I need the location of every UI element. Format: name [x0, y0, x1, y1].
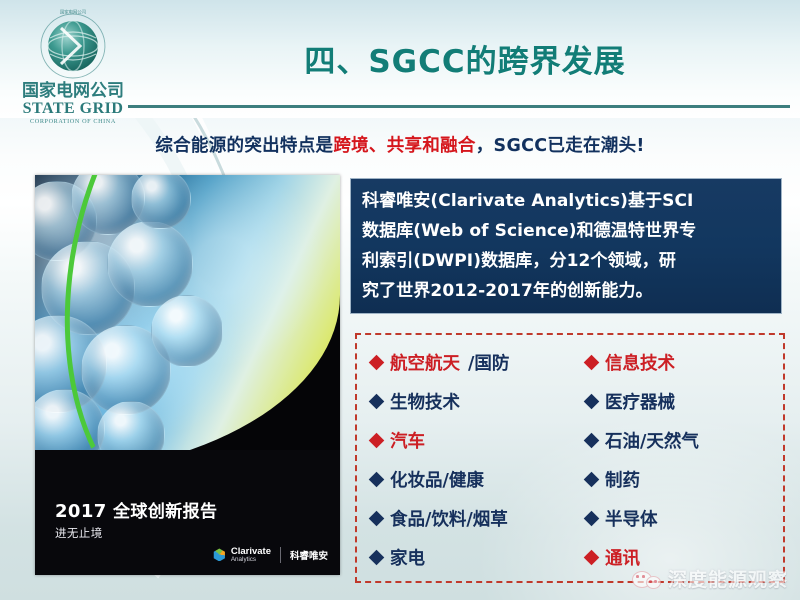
cover-logo-row: Clarivate Analytics 科睿唯安	[213, 547, 328, 563]
fields-column-right: 信息技术 医疗器械 石油/天然气 制药 半导体 通讯	[568, 335, 783, 581]
diamond-bullet-navy-icon	[369, 472, 385, 488]
diamond-bullet-navy-icon	[584, 394, 600, 410]
logo-divider	[280, 547, 281, 563]
cover-title-year: 2017	[55, 501, 107, 522]
list-item: 航空航天/国防	[371, 343, 568, 382]
kerui-weian-logo: 科睿唯安	[290, 548, 328, 562]
cover-subtitle: 进无止境	[55, 525, 103, 541]
slide-canvas: 国家电网公司 国家电网公司 STATE GRID CORPORATION OF …	[0, 0, 800, 600]
description-line-1: 科睿唯安(Clarivate Analytics)基于SCI	[362, 186, 772, 216]
field-label: 汽车	[390, 428, 425, 453]
title-underline-rule	[128, 105, 790, 108]
subtitle-highlight: 跨境、共享和融合	[333, 136, 475, 156]
field-label: 医疗器械	[605, 389, 675, 414]
slide-subtitle: 综合能源的突出特点是跨境、共享和融合，SGCC已走在潮头!	[0, 132, 800, 157]
description-line-2: 数据库(Web of Science)和德温特世界专	[362, 216, 772, 246]
description-line-3: 利索引(DWPI)数据库，分12个领域，研	[362, 246, 772, 276]
diamond-bullet-navy-icon	[369, 394, 385, 410]
list-item: 石油/天然气	[586, 421, 783, 460]
fields-list-box: 航空航天/国防 生物技术 汽车 化妆品/健康 食品/饮料/烟草 家电	[355, 333, 785, 583]
field-label: 通讯	[605, 545, 640, 570]
diamond-bullet-red-icon	[369, 355, 385, 371]
list-item: 医疗器械	[586, 382, 783, 421]
brand-name-en: STATE GRID	[12, 101, 134, 117]
subtitle-part-1: 综合能源的突出特点是	[155, 136, 333, 156]
field-label: 信息技术	[605, 350, 675, 375]
diamond-bullet-navy-icon	[369, 511, 385, 527]
field-label: 家电	[390, 545, 425, 570]
diamond-bullet-navy-icon	[369, 550, 385, 566]
svg-text:国家电网公司: 国家电网公司	[60, 9, 86, 16]
fields-column-left: 航空航天/国防 生物技术 汽车 化妆品/健康 食品/饮料/烟草 家电	[357, 335, 568, 581]
list-item: 化妆品/健康	[371, 460, 568, 499]
field-label: 石油/天然气	[605, 428, 699, 453]
field-label-suffix: /国防	[468, 350, 509, 375]
field-label: 航空航天	[390, 350, 460, 375]
state-grid-globe-icon: 国家电网公司	[36, 8, 110, 82]
diamond-bullet-navy-icon	[584, 472, 600, 488]
brand-name-cn: 国家电网公司	[12, 83, 134, 100]
list-item: 通讯	[586, 538, 783, 577]
list-item: 汽车	[371, 421, 568, 460]
brand-logo-block: 国家电网公司 国家电网公司 STATE GRID CORPORATION OF …	[12, 8, 134, 120]
list-item: 生物技术	[371, 382, 568, 421]
diamond-bullet-navy-icon	[584, 511, 600, 527]
diamond-bullet-red-icon	[369, 433, 385, 449]
cover-title-text: 全球创新报告	[113, 502, 217, 522]
field-label: 化妆品/健康	[390, 467, 484, 492]
description-box: 科睿唯安(Clarivate Analytics)基于SCI 数据库(Web o…	[350, 178, 782, 314]
cover-title: 2017 全球创新报告	[55, 497, 217, 522]
clarivate-hexagon-icon	[213, 548, 226, 561]
cover-photo-artwork	[35, 175, 340, 475]
diamond-bullet-red-icon	[584, 355, 600, 371]
report-cover-image: 2017 全球创新报告 进无止境 Clarivate Analytics 科睿唯…	[35, 175, 340, 575]
list-item: 家电	[371, 538, 568, 577]
field-label: 生物技术	[390, 389, 460, 414]
clarivate-logo: Clarivate Analytics	[213, 547, 271, 563]
field-label: 半导体	[605, 506, 658, 531]
list-item: 制药	[586, 460, 783, 499]
brand-name-sub: CORPORATION OF CHINA	[12, 119, 134, 125]
field-label: 制药	[605, 467, 640, 492]
list-item: 半导体	[586, 499, 783, 538]
description-line-4: 究了世界2012-2017年的创新能力。	[362, 276, 772, 306]
list-item: 信息技术	[586, 343, 783, 382]
subtitle-part-2: ，SGCC已走在潮头!	[476, 136, 645, 156]
clarivate-subname: Analytics	[231, 557, 271, 563]
diamond-bullet-navy-icon	[584, 433, 600, 449]
list-item: 食品/饮料/烟草	[371, 499, 568, 538]
page-title: 四、SGCC的跨界发展	[150, 36, 780, 81]
diamond-bullet-red-icon	[584, 550, 600, 566]
field-label: 食品/饮料/烟草	[390, 506, 508, 531]
